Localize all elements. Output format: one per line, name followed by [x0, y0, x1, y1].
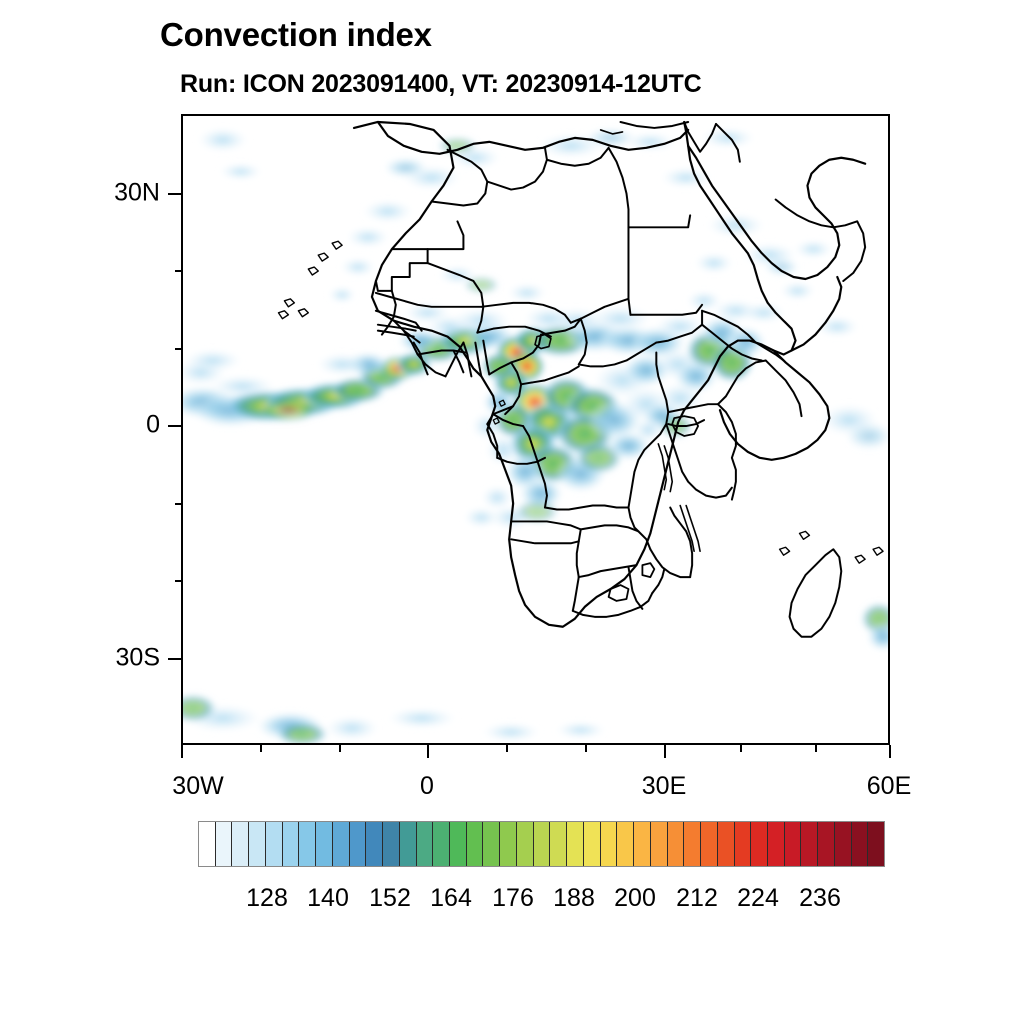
colorbar-tick-label: 224 [737, 886, 779, 911]
y-tick-minor [175, 348, 182, 350]
colorbar-cell[interactable] [450, 822, 467, 866]
y-tick-minor [175, 270, 182, 272]
colorbar-cell[interactable] [232, 822, 249, 866]
colorbar-cell[interactable] [316, 822, 333, 866]
colorbar-cell[interactable] [350, 822, 367, 866]
colorbar-cell[interactable] [735, 822, 752, 866]
x-axis-label-30e: 30E [642, 774, 686, 799]
y-tick-minor [175, 580, 182, 582]
colorbar-cell[interactable] [517, 822, 534, 866]
figure-root: Convection index Run: ICON 2023091400, V… [0, 0, 1024, 1024]
colorbar-cell[interactable] [785, 822, 802, 866]
x-axis-label-30w: 30W [172, 774, 223, 799]
map-plot-area[interactable] [181, 114, 890, 745]
x-tick-major [427, 745, 429, 758]
colorbar-cell[interactable] [701, 822, 718, 866]
colorbar-tick-label: 236 [799, 886, 841, 911]
colorbar-cell[interactable] [500, 822, 517, 866]
colorbar-cell[interactable] [534, 822, 551, 866]
x-tick-major [181, 745, 183, 758]
colorbar-cell[interactable] [617, 822, 634, 866]
colorbar-cell[interactable] [868, 822, 884, 866]
y-tick-minor [175, 503, 182, 505]
colorbar-cell[interactable] [483, 822, 500, 866]
colorbar-cell[interactable] [199, 822, 216, 866]
colorbar-cell[interactable] [751, 822, 768, 866]
y-axis-label-30s: 30S [48, 646, 160, 671]
colorbar-tick-label: 188 [553, 886, 595, 911]
colorbar-cell[interactable] [266, 822, 283, 866]
africa-convection-map [183, 116, 888, 743]
x-tick-minor [585, 745, 587, 752]
colorbar-cell[interactable] [383, 822, 400, 866]
colorbar-cell[interactable] [768, 822, 785, 866]
x-tick-major [664, 745, 666, 758]
colorbar-cell[interactable] [835, 822, 852, 866]
colorbar-cell[interactable] [567, 822, 584, 866]
page-subtitle: Run: ICON 2023091400, VT: 20230914-12UTC [180, 72, 701, 97]
y-axis-label-30n: 30N [48, 181, 160, 206]
colorbar-cell[interactable] [283, 822, 300, 866]
colorbar-labels: 128140152164176188200212224236 [0, 886, 1024, 916]
x-axis-label-0: 0 [420, 774, 434, 799]
colorbar[interactable] [198, 821, 885, 867]
colorbar-cell[interactable] [299, 822, 316, 866]
colorbar-tick-label: 200 [614, 886, 656, 911]
colorbar-tick-label: 176 [492, 886, 534, 911]
colorbar-cell[interactable] [684, 822, 701, 866]
x-tick-minor [260, 745, 262, 752]
colorbar-tick-label: 164 [430, 886, 472, 911]
x-axis-label-60e: 60E [867, 774, 911, 799]
colorbar-cell[interactable] [550, 822, 567, 866]
colorbar-cell[interactable] [433, 822, 450, 866]
colorbar-cell[interactable] [651, 822, 668, 866]
colorbar-cell[interactable] [417, 822, 434, 866]
colorbar-cell[interactable] [818, 822, 835, 866]
page-title: Convection index [160, 18, 432, 51]
colorbar-cell[interactable] [601, 822, 618, 866]
x-tick-major [889, 745, 891, 758]
colorbar-cell[interactable] [584, 822, 601, 866]
y-tick-major [168, 658, 182, 660]
colorbar-tick-label: 212 [676, 886, 718, 911]
colorbar-cell[interactable] [366, 822, 383, 866]
colorbar-cell[interactable] [852, 822, 869, 866]
x-tick-minor [506, 745, 508, 752]
colorbar-tick-label: 152 [369, 886, 411, 911]
x-tick-minor [740, 745, 742, 752]
colorbar-cell[interactable] [634, 822, 651, 866]
y-tick-major [168, 193, 182, 195]
colorbar-cell[interactable] [249, 822, 266, 866]
colorbar-tick-label: 128 [246, 886, 288, 911]
colorbar-cell[interactable] [467, 822, 484, 866]
colorbar-cell[interactable] [216, 822, 233, 866]
colorbar-cell[interactable] [400, 822, 417, 866]
colorbar-cell[interactable] [801, 822, 818, 866]
y-tick-major [168, 425, 182, 427]
colorbar-cell[interactable] [333, 822, 350, 866]
colorbar-cell[interactable] [668, 822, 685, 866]
colorbar-tick-label: 140 [307, 886, 349, 911]
x-tick-minor [815, 745, 817, 752]
colorbar-cell[interactable] [718, 822, 735, 866]
y-axis-label-0: 0 [48, 413, 160, 438]
x-tick-minor [339, 745, 341, 752]
